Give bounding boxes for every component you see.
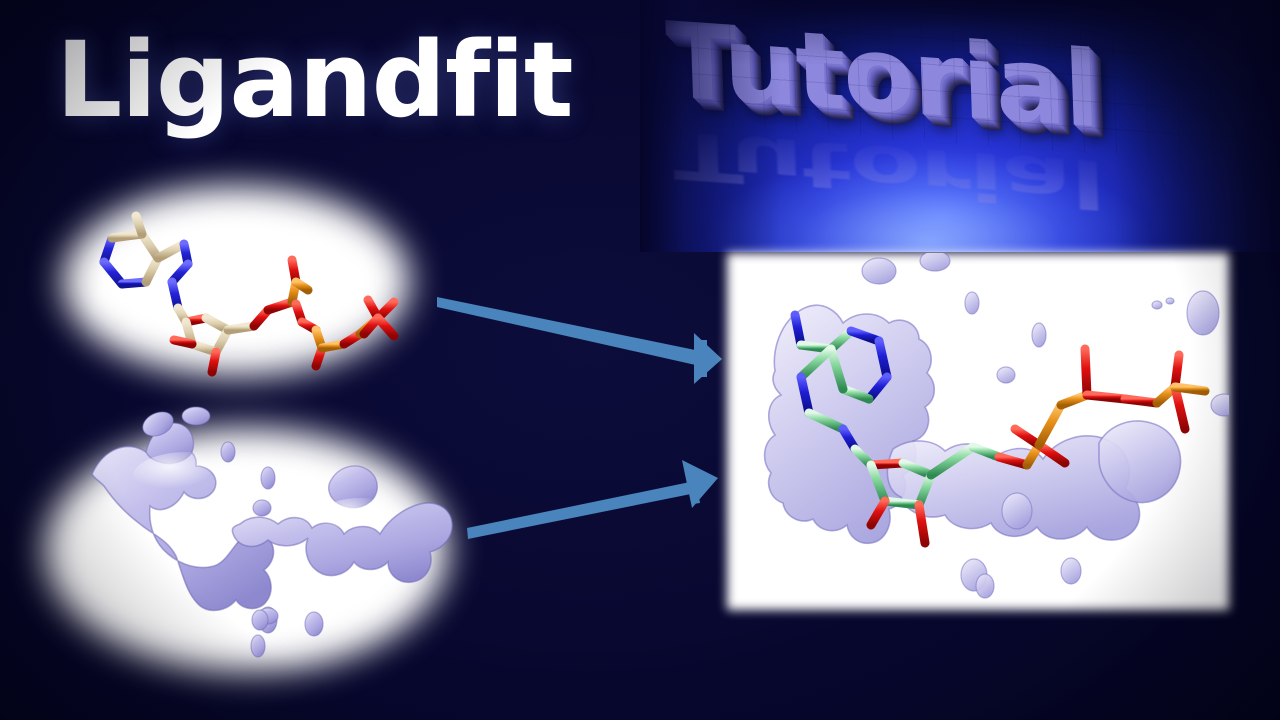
background-vignette [0,0,1280,720]
slide-canvas: Tutorial Tutorial Ligandfit [0,0,1280,720]
